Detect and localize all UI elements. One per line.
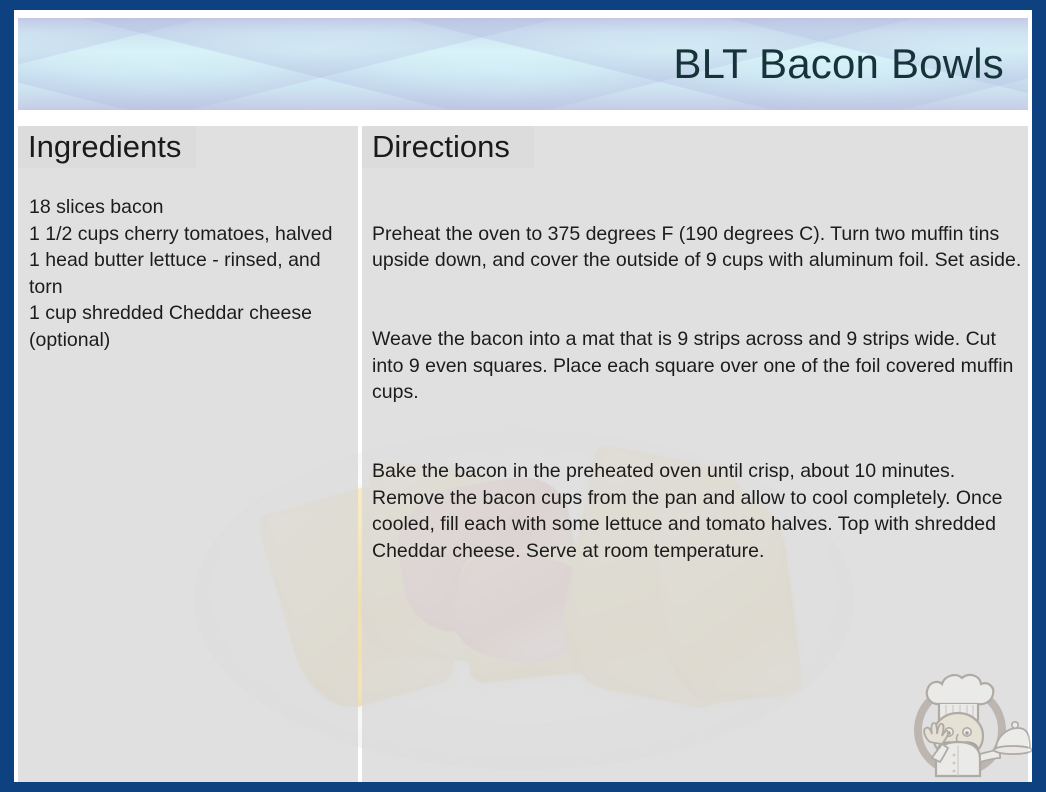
directions-heading: Directions (372, 126, 510, 168)
direction-step: Weave the bacon into a mat that is 9 str… (372, 326, 1028, 406)
ingredients-list: 18 slices bacon 1 1/2 cups cherry tomato… (29, 194, 354, 353)
header-banner: BLT Bacon Bowls (18, 18, 1028, 110)
direction-step: Preheat the oven to 375 degrees F (190 d… (372, 221, 1028, 274)
direction-step: Bake the bacon in the preheated oven unt… (372, 458, 1028, 564)
slide-canvas: BLT Bacon Bowls Ingredients 18 slices ba… (14, 10, 1032, 782)
ingredients-heading: Ingredients (28, 126, 181, 168)
directions-steps: Preheat the oven to 375 degrees F (190 d… (372, 194, 1028, 591)
slide-frame: BLT Bacon Bowls Ingredients 18 slices ba… (0, 0, 1046, 792)
page-title: BLT Bacon Bowls (673, 40, 1004, 88)
